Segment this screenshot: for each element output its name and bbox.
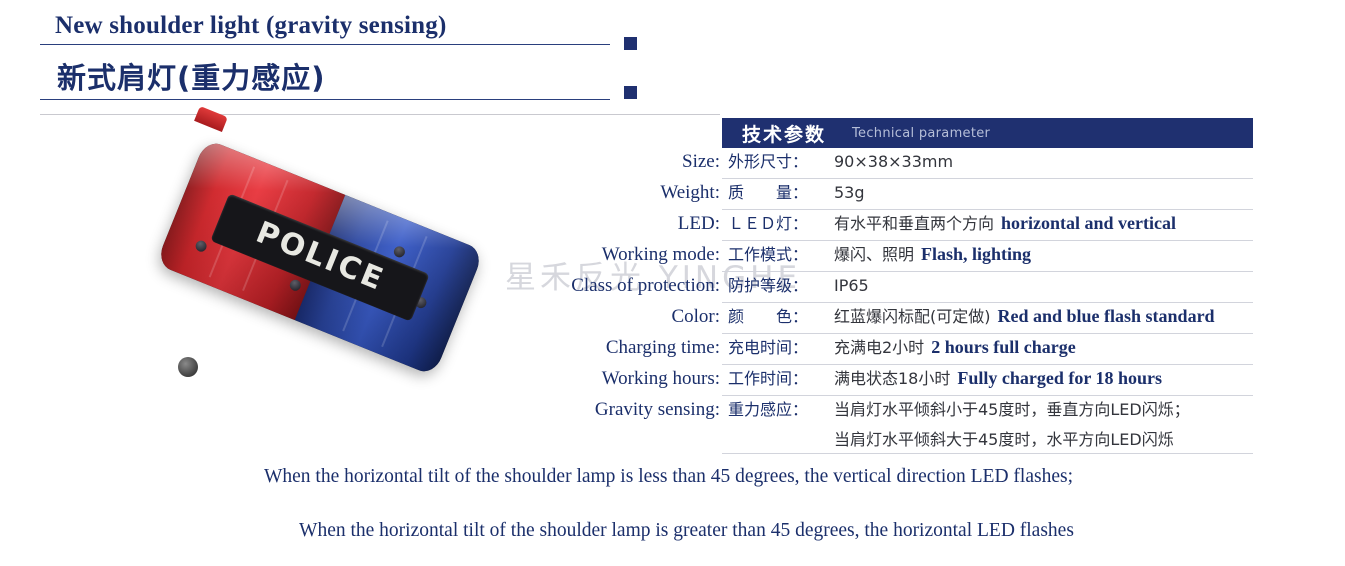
spec-value-chinese: 当肩灯水平倾斜小于45度时，垂直方向LED闪烁；: [834, 396, 1190, 420]
spec-label-english: Working mode:: [602, 244, 720, 266]
header-rule-bottom: [40, 99, 610, 100]
spec-label-english: Size:: [682, 151, 720, 173]
spec-label-chinese: 外形尺寸：: [722, 148, 834, 172]
spec-row: Working mode: 工作模式： 爆闪、照明 Flash, lightin…: [722, 241, 1253, 272]
spec-label-english: Gravity sensing:: [595, 399, 720, 421]
page-title-english: New shoulder light (gravity sensing): [55, 12, 446, 40]
bottom-note-line-2: When the horizontal tilt of the shoulder…: [0, 521, 1345, 541]
spec-rows-list: Size: 外形尺寸： 90×38×33mm Weight: 质 量： 53g …: [722, 148, 1253, 454]
spec-row: LED: ＬＥＤ灯： 有水平和垂直两个方向 horizontal and ver…: [722, 210, 1253, 241]
spec-value-chinese: 爆闪、照明: [834, 241, 914, 265]
spec-label-chinese: 充电时间：: [722, 334, 834, 358]
spec-label-english: Color:: [671, 306, 720, 328]
spec-value-chinese: 有水平和垂直两个方向: [834, 210, 994, 234]
spec-row: Class of protection: 防护等级： IP65: [722, 272, 1253, 303]
spec-value-chinese: 90×38×33mm: [834, 152, 953, 171]
spec-value-english: Red and blue flash standard: [998, 306, 1215, 327]
spec-panel-header: 技术参数 Technical parameter: [722, 118, 1253, 148]
spec-value-chinese: 53g: [834, 183, 865, 202]
product-image: POLICE: [150, 135, 500, 435]
technical-parameter-panel: 技术参数 Technical parameter Size: 外形尺寸： 90×…: [722, 118, 1253, 148]
spec-label-chinese: 颜 色：: [722, 303, 834, 327]
shoulder-lamp-body: POLICE: [156, 139, 485, 377]
spec-label-english: Charging time:: [606, 337, 720, 359]
page-title-chinese: 新式肩灯(重力感应): [57, 55, 326, 97]
square-bullet-icon: [624, 37, 637, 50]
spec-header-chinese: 技术参数: [742, 120, 826, 147]
spec-value-chinese: 红蓝爆闪标配(可定做): [834, 303, 991, 327]
spec-header-english: Technical parameter: [852, 126, 990, 141]
spec-value-chinese: IP65: [834, 276, 869, 295]
bottom-note-line-1: When the horizontal tilt of the shoulder…: [0, 467, 1345, 487]
spec-row: Size: 外形尺寸： 90×38×33mm: [722, 148, 1253, 179]
page-header: New shoulder light (gravity sensing) 新式肩…: [0, 0, 1345, 118]
lamp-charging-port: [178, 357, 198, 377]
spec-value-chinese-line2: 当肩灯水平倾斜大于45度时，水平方向LED闪烁: [834, 426, 1174, 450]
spec-value-chinese: 充满电2小时: [834, 334, 924, 358]
square-bullet-icon: [624, 86, 637, 99]
spec-row: Charging time: 充电时间： 充满电2小时 2 hours full…: [722, 334, 1253, 365]
spec-value-chinese: 满电状态18小时: [834, 365, 950, 389]
spec-label-chinese: 质 量：: [722, 179, 834, 203]
spec-label-chinese: 重力感应：: [722, 396, 834, 420]
header-divider: [40, 114, 720, 115]
spec-label-chinese: 工作模式：: [722, 241, 834, 265]
spec-label-english: Working hours:: [602, 368, 720, 390]
spec-label-chinese: ＬＥＤ灯：: [722, 210, 834, 234]
spec-row: Weight: 质 量： 53g: [722, 179, 1253, 210]
spec-label-chinese: 工作时间：: [722, 365, 834, 389]
spec-label-english: Weight:: [660, 182, 720, 204]
bottom-notes: When the horizontal tilt of the shoulder…: [0, 458, 1345, 540]
spec-label-english: LED:: [678, 213, 720, 235]
spec-label-english: Class of protection:: [571, 275, 720, 297]
spec-row: Gravity sensing: 重力感应： 当肩灯水平倾斜小于45度时，垂直方…: [722, 396, 1253, 454]
spec-row: Working hours: 工作时间： 满电状态18小时 Fully char…: [722, 365, 1253, 396]
spec-row: Color: 颜 色： 红蓝爆闪标配(可定做) Red and blue fla…: [722, 303, 1253, 334]
spec-value-english: 2 hours full charge: [931, 337, 1076, 358]
header-rule-top: [40, 44, 610, 45]
spec-value-english: Fully charged for 18 hours: [957, 368, 1162, 389]
spec-label-chinese: 防护等级：: [722, 272, 834, 296]
spec-value-english: Flash, lighting: [921, 244, 1031, 265]
spec-value-english: horizontal and vertical: [1001, 213, 1176, 234]
